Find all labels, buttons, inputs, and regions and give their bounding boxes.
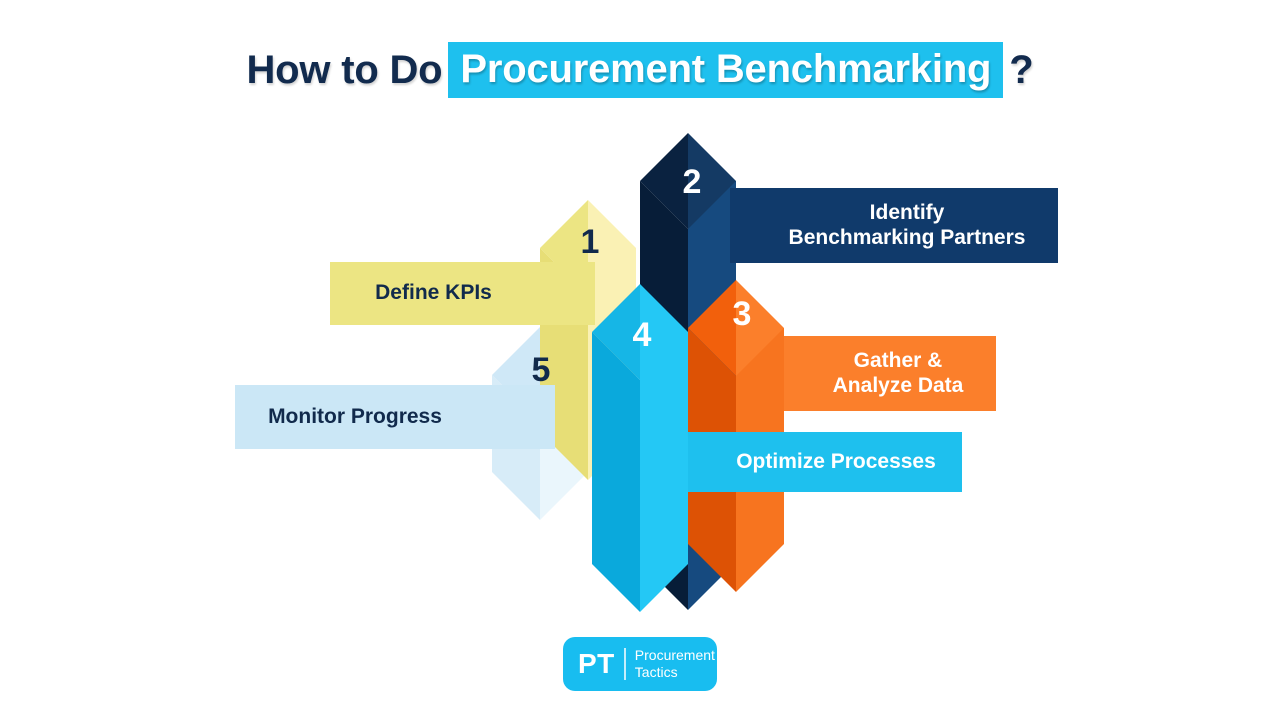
step-3-number: 3: [722, 297, 762, 331]
step-5-label: Monitor Progress: [235, 405, 475, 430]
step-1-number: 1: [570, 225, 610, 259]
step-1-label: Define KPIs: [330, 281, 537, 306]
logo-initials: PT: [578, 650, 615, 678]
prism-4-body-right: [640, 332, 688, 612]
logo-divider-icon: [624, 648, 626, 680]
step-3-label-bar[interactable]: Gather & Analyze Data: [784, 336, 996, 411]
infographic-canvas: How to DoProcurement Benchmarking?: [0, 0, 1280, 720]
step-1-label-bar[interactable]: Define KPIs: [330, 262, 595, 325]
step-5-label-bar[interactable]: Monitor Progress: [235, 385, 555, 449]
prism-diagram: [0, 0, 1280, 720]
step-2-number: 2: [672, 165, 712, 199]
step-2-label-bar[interactable]: Identify Benchmarking Partners: [730, 188, 1058, 263]
brand-logo[interactable]: PT Procurement Tactics: [563, 637, 717, 691]
step-4-label: Optimize Processes: [710, 450, 962, 475]
prism-4-body-left: [592, 332, 640, 612]
step-4-number: 4: [622, 318, 662, 352]
logo-wordmark: Procurement Tactics: [635, 647, 715, 681]
step-5-number: 5: [521, 353, 561, 387]
step-4-label-bar[interactable]: Optimize Processes: [688, 432, 962, 492]
prism-svg: [0, 0, 1280, 720]
step-3-label: Gather & Analyze Data: [800, 349, 996, 399]
step-2-label: Identify Benchmarking Partners: [756, 201, 1058, 251]
